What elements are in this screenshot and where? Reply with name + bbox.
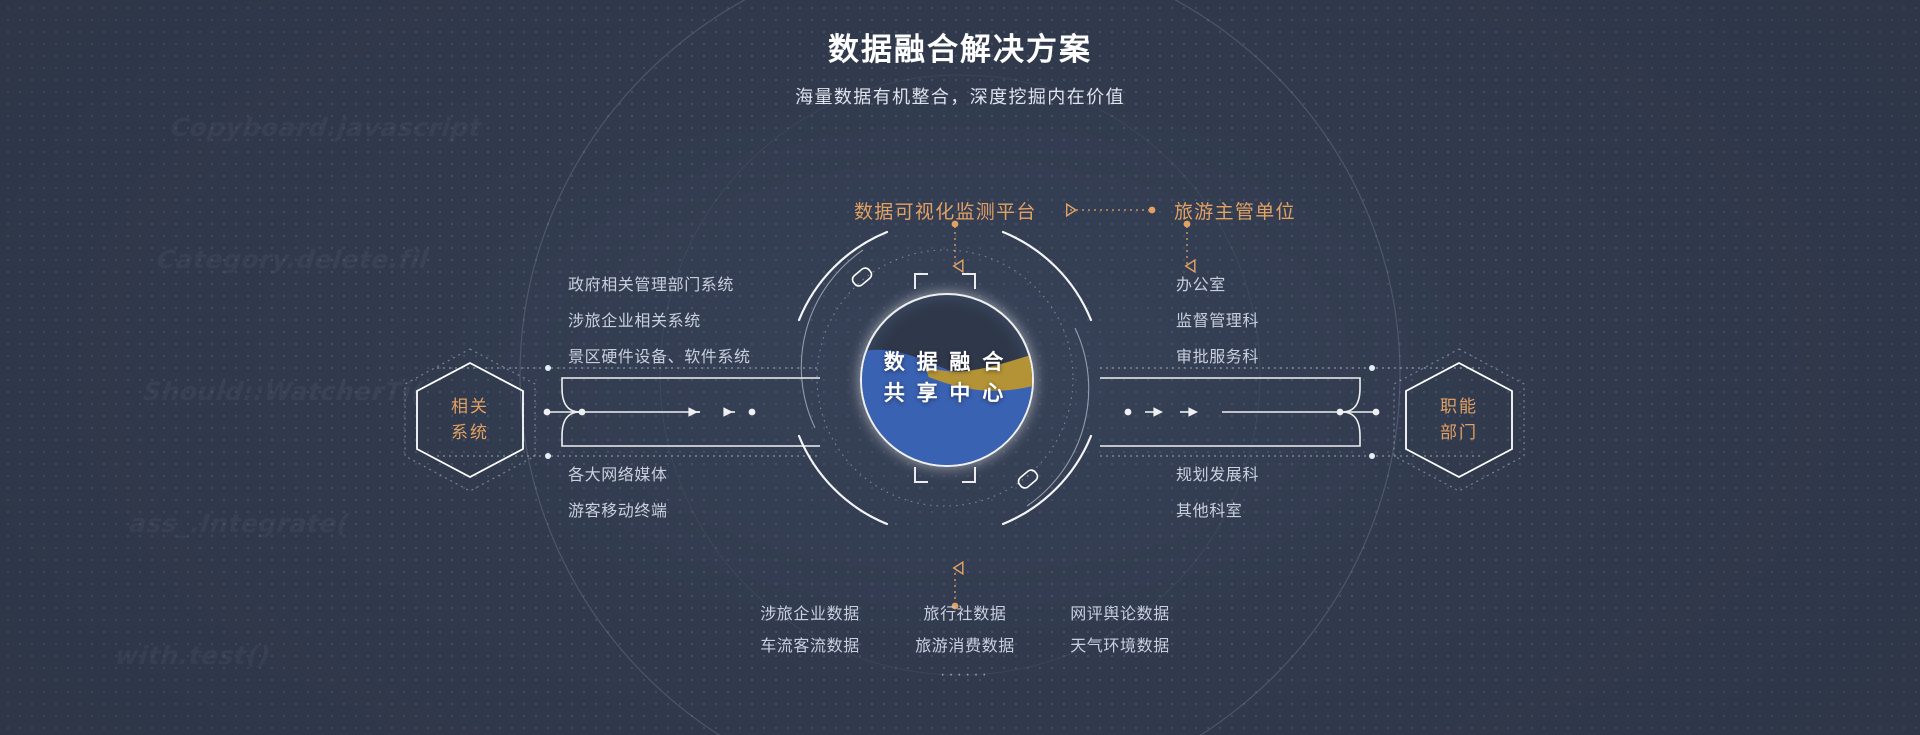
bottom-data-cell: 涉旅企业数据 <box>735 600 885 624</box>
list-item: 审批服务科 <box>1176 340 1259 376</box>
hexagon-right-label: 职能 部门 <box>1400 355 1518 485</box>
list-item: 涉旅企业相关系统 <box>568 304 751 340</box>
bottom-data-row: 车流客流数据 旅游消费数据 天气环境数据 <box>735 632 1195 656</box>
bottom-data-cell: 车流客流数据 <box>735 632 885 656</box>
hexagon-left-line2: 系统 <box>451 420 489 446</box>
hexagon-left-line1: 相关 <box>451 394 489 420</box>
label-visualization-platform: 数据可视化监测平台 <box>854 197 1037 224</box>
hub-water-graphic <box>860 295 1034 465</box>
list-item: 游客移动终端 <box>568 494 668 530</box>
hexagon-right-line1: 职能 <box>1440 394 1478 420</box>
page-subtitle: 海量数据有机整合，深度挖掘内在价值 <box>0 86 1920 109</box>
bottom-data-cell: 旅行社数据 <box>890 600 1040 624</box>
hexagon-functional-departments[interactable]: 职能 部门 <box>1400 355 1518 485</box>
bottom-data-sources: 涉旅企业数据 旅行社数据 网评舆论数据 车流客流数据 旅游消费数据 天气环境数据… <box>735 600 1195 684</box>
header: 数据融合解决方案 海量数据有机整合，深度挖掘内在价值 <box>0 30 1920 110</box>
list-item: 政府相关管理部门系统 <box>568 268 751 304</box>
bottom-data-cell: 旅游消费数据 <box>890 632 1040 656</box>
label-tourism-authority: 旅游主管单位 <box>1174 197 1296 224</box>
hexagon-left-label: 相关 系统 <box>411 355 529 485</box>
left-sources-top-list: 政府相关管理部门系统 涉旅企业相关系统 景区硬件设备、软件系统 <box>568 268 751 376</box>
list-item: 其他科室 <box>1176 494 1259 530</box>
bottom-data-row: 涉旅企业数据 旅行社数据 网评舆论数据 <box>735 600 1195 624</box>
page-title: 数据融合解决方案 <box>0 30 1920 70</box>
bottom-data-cell: 网评舆论数据 <box>1045 600 1195 624</box>
list-item: 景区硬件设备、软件系统 <box>568 340 751 376</box>
list-item: 规划发展科 <box>1176 458 1259 494</box>
bottom-data-cell: 天气环境数据 <box>1045 632 1195 656</box>
center-hub: 数 据 融 合 共 享 中 心 <box>810 243 1080 513</box>
hub-core-circle <box>860 293 1034 467</box>
hexagon-right-line2: 部门 <box>1440 420 1478 446</box>
bottom-data-more: ······ <box>735 666 1195 684</box>
hexagon-related-systems[interactable]: 相关 系统 <box>411 355 529 485</box>
list-item: 各大网络媒体 <box>568 458 668 494</box>
right-departments-top-list: 办公室 监督管理科 审批服务科 <box>1176 268 1259 376</box>
diagram-stage: Copyboard.javascript Category.delete.fil… <box>0 0 1920 735</box>
list-item: 监督管理科 <box>1176 304 1259 340</box>
right-departments-bottom-list: 规划发展科 其他科室 <box>1176 458 1259 530</box>
left-sources-bottom-list: 各大网络媒体 游客移动终端 <box>568 458 668 530</box>
list-item: 办公室 <box>1176 268 1259 304</box>
